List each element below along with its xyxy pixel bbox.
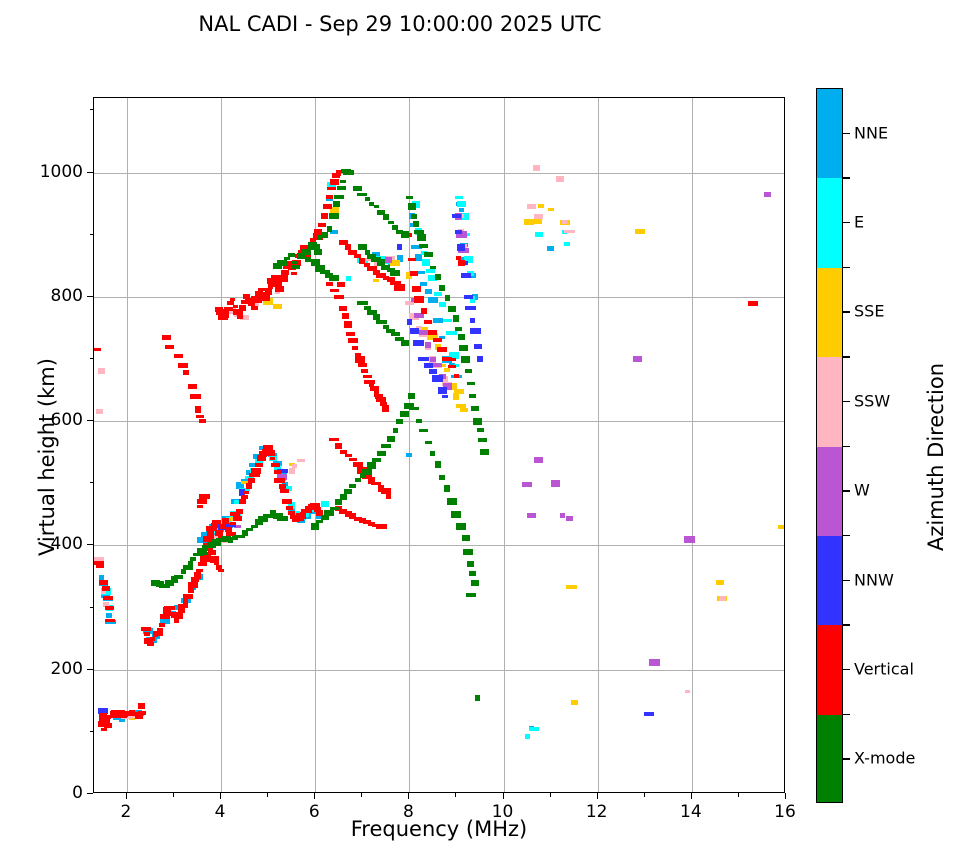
data-point bbox=[446, 331, 457, 335]
y-tick bbox=[87, 420, 93, 421]
data-point bbox=[562, 220, 567, 224]
data-point bbox=[451, 511, 461, 518]
data-point bbox=[458, 260, 465, 266]
data-point bbox=[435, 461, 441, 468]
data-point bbox=[455, 196, 463, 199]
data-point bbox=[385, 257, 392, 263]
data-point bbox=[183, 370, 189, 375]
data-point bbox=[410, 328, 419, 334]
data-point bbox=[344, 321, 352, 328]
data-point bbox=[327, 187, 336, 190]
x-tick bbox=[597, 793, 598, 799]
data-point bbox=[422, 259, 430, 266]
data-point bbox=[460, 408, 468, 412]
data-point bbox=[649, 659, 660, 666]
data-point bbox=[251, 306, 258, 310]
y-tick bbox=[87, 544, 93, 545]
data-point bbox=[321, 213, 328, 219]
data-point bbox=[716, 580, 724, 585]
data-point bbox=[199, 419, 206, 423]
data-point bbox=[633, 356, 642, 362]
data-point bbox=[196, 415, 204, 418]
data-point bbox=[438, 387, 447, 394]
data-point bbox=[157, 628, 163, 634]
data-point bbox=[466, 593, 476, 597]
data-point bbox=[340, 180, 346, 183]
colorbar-band-x-mode[interactable] bbox=[817, 715, 842, 803]
data-point bbox=[330, 179, 339, 185]
data-point bbox=[194, 572, 201, 579]
data-point bbox=[162, 335, 171, 340]
data-point bbox=[222, 518, 229, 524]
data-point bbox=[534, 457, 543, 463]
data-point bbox=[428, 297, 438, 303]
data-point bbox=[183, 599, 188, 604]
data-point bbox=[164, 606, 175, 610]
data-point bbox=[571, 700, 578, 705]
data-point bbox=[461, 273, 471, 278]
data-point bbox=[183, 594, 193, 599]
data-point bbox=[270, 457, 275, 460]
data-point bbox=[421, 308, 427, 314]
y-tick bbox=[90, 482, 94, 483]
data-point bbox=[461, 356, 470, 363]
y-tick-label: 800 bbox=[13, 286, 83, 306]
data-point bbox=[147, 642, 154, 646]
y-tick bbox=[90, 607, 94, 608]
data-point bbox=[391, 332, 400, 336]
data-point bbox=[326, 282, 333, 286]
data-point bbox=[413, 340, 424, 346]
data-point bbox=[159, 623, 165, 627]
data-point bbox=[416, 419, 422, 423]
data-point bbox=[445, 295, 450, 301]
data-point bbox=[433, 338, 442, 342]
data-point bbox=[236, 509, 243, 514]
data-point bbox=[239, 305, 246, 311]
colorbar-band-separator bbox=[843, 535, 850, 536]
data-point bbox=[439, 475, 445, 480]
data-point bbox=[104, 723, 112, 728]
data-point bbox=[454, 389, 464, 394]
data-point bbox=[564, 242, 570, 246]
x-tick bbox=[267, 793, 268, 797]
data-point bbox=[685, 690, 690, 693]
data-point bbox=[388, 221, 394, 224]
data-point bbox=[467, 561, 474, 567]
plot-area[interactable] bbox=[93, 97, 785, 793]
data-point bbox=[178, 608, 185, 613]
data-point bbox=[478, 438, 487, 442]
colorbar-band-ssw[interactable] bbox=[817, 357, 842, 446]
data-point bbox=[197, 548, 207, 555]
data-point bbox=[374, 205, 379, 208]
data-point bbox=[442, 395, 448, 398]
data-point bbox=[373, 279, 379, 282]
data-point bbox=[424, 320, 432, 324]
data-point bbox=[358, 363, 367, 367]
data-point bbox=[274, 478, 285, 483]
data-point bbox=[397, 244, 402, 250]
data-point bbox=[94, 348, 101, 351]
data-point bbox=[474, 344, 482, 349]
colorbar-tick bbox=[843, 401, 850, 402]
data-point bbox=[432, 375, 443, 382]
data-point bbox=[357, 193, 367, 196]
data-point bbox=[448, 306, 456, 312]
colorbar-band-nnw[interactable] bbox=[817, 536, 842, 625]
data-point bbox=[329, 438, 339, 441]
data-point bbox=[343, 170, 354, 175]
data-point bbox=[425, 342, 431, 348]
colorbar-label-vertical: Vertical bbox=[854, 659, 914, 678]
data-point bbox=[178, 363, 188, 368]
data-point bbox=[327, 226, 332, 232]
data-point bbox=[475, 695, 480, 701]
data-point bbox=[459, 345, 468, 351]
data-layer bbox=[94, 98, 784, 792]
data-point bbox=[465, 369, 472, 373]
data-point bbox=[102, 586, 110, 591]
data-point bbox=[316, 520, 323, 523]
colorbar-tick bbox=[843, 758, 850, 759]
x-tick bbox=[503, 793, 504, 799]
data-point bbox=[386, 493, 391, 499]
data-point bbox=[277, 516, 288, 521]
data-point bbox=[103, 596, 113, 600]
data-point bbox=[246, 528, 253, 531]
ionogram-figure: NAL CADI - Sep 29 10:00:00 2025 UTC 2468… bbox=[0, 0, 958, 857]
data-point bbox=[529, 727, 539, 731]
data-point bbox=[98, 368, 105, 374]
data-point bbox=[401, 231, 409, 238]
data-point bbox=[424, 252, 433, 257]
data-point bbox=[330, 507, 339, 510]
data-point bbox=[288, 253, 295, 257]
data-point bbox=[429, 369, 437, 374]
colorbar-tick bbox=[843, 311, 850, 312]
x-tick bbox=[220, 793, 221, 799]
data-point bbox=[414, 296, 424, 303]
data-point bbox=[342, 313, 349, 319]
data-point bbox=[719, 596, 726, 601]
data-point bbox=[286, 506, 293, 510]
y-tick-label: 200 bbox=[13, 659, 83, 679]
y-tick bbox=[87, 296, 93, 297]
colorbar-label-ssw: SSW bbox=[854, 391, 890, 410]
data-point bbox=[321, 501, 329, 507]
data-point bbox=[251, 525, 258, 528]
data-point bbox=[311, 523, 319, 530]
data-point bbox=[246, 483, 252, 489]
colorbar-band-separator bbox=[843, 177, 850, 178]
data-point bbox=[362, 469, 372, 475]
colorbar[interactable] bbox=[816, 88, 843, 803]
data-point bbox=[337, 282, 345, 287]
colorbar-band-nne[interactable] bbox=[817, 89, 842, 178]
x-tick bbox=[644, 793, 645, 797]
data-point bbox=[430, 451, 435, 456]
data-point bbox=[419, 429, 428, 432]
data-point bbox=[424, 363, 433, 368]
data-point bbox=[535, 232, 543, 237]
data-point bbox=[414, 313, 424, 318]
data-point bbox=[267, 450, 275, 456]
x-tick bbox=[455, 793, 456, 797]
data-point bbox=[635, 229, 645, 234]
data-point bbox=[224, 307, 233, 311]
data-point bbox=[197, 499, 207, 504]
colorbar-label-nnw: NNW bbox=[854, 570, 894, 589]
data-point bbox=[480, 449, 489, 455]
data-point bbox=[314, 229, 322, 235]
data-point bbox=[413, 221, 419, 227]
data-point bbox=[548, 208, 554, 211]
data-point bbox=[199, 494, 210, 499]
y-tick-label: 1000 bbox=[13, 162, 83, 182]
y-tick-label: 0 bbox=[13, 783, 83, 803]
data-point bbox=[244, 491, 249, 494]
data-point bbox=[527, 513, 536, 518]
x-tick bbox=[691, 793, 692, 799]
data-point bbox=[464, 295, 473, 299]
data-point bbox=[764, 192, 771, 197]
data-point bbox=[367, 462, 376, 469]
x-tick bbox=[314, 793, 315, 799]
data-point bbox=[188, 384, 197, 389]
data-point bbox=[223, 311, 229, 318]
data-point bbox=[337, 186, 346, 190]
data-point bbox=[381, 444, 391, 448]
data-point bbox=[411, 214, 417, 219]
data-point bbox=[473, 418, 482, 425]
data-point bbox=[433, 318, 443, 323]
data-point bbox=[387, 436, 395, 442]
data-point bbox=[178, 604, 188, 608]
data-point bbox=[174, 612, 183, 619]
data-point bbox=[230, 522, 236, 525]
y-axis-title: Virtual height (km) bbox=[35, 307, 59, 607]
data-point bbox=[138, 703, 145, 709]
x-tick bbox=[550, 793, 551, 797]
data-point bbox=[564, 230, 575, 233]
data-point bbox=[377, 451, 386, 456]
colorbar-tick bbox=[843, 222, 850, 223]
data-point bbox=[233, 305, 238, 308]
colorbar-tick bbox=[843, 580, 850, 581]
data-point bbox=[96, 409, 103, 414]
data-point bbox=[277, 260, 287, 266]
data-point bbox=[419, 244, 428, 248]
data-point bbox=[323, 204, 332, 209]
colorbar-band-sse[interactable] bbox=[817, 268, 842, 357]
data-point bbox=[409, 407, 419, 410]
x-tick bbox=[126, 793, 127, 799]
data-point bbox=[456, 523, 466, 530]
data-point bbox=[280, 489, 289, 493]
data-point bbox=[425, 289, 432, 294]
colorbar-band-separator bbox=[843, 356, 850, 357]
data-point bbox=[376, 524, 387, 529]
colorbar-label-nne: NNE bbox=[854, 123, 888, 142]
y-tick bbox=[87, 172, 93, 173]
data-point bbox=[261, 295, 270, 301]
data-point bbox=[277, 275, 288, 282]
data-point bbox=[417, 234, 426, 241]
data-point bbox=[255, 463, 263, 467]
data-point bbox=[275, 286, 284, 292]
data-point bbox=[534, 214, 543, 219]
data-point bbox=[455, 327, 462, 331]
data-point bbox=[444, 485, 450, 492]
data-point bbox=[453, 393, 459, 400]
data-point bbox=[433, 363, 442, 367]
data-point bbox=[188, 561, 193, 565]
data-point bbox=[345, 454, 352, 457]
data-point bbox=[297, 459, 305, 462]
data-point bbox=[346, 332, 355, 336]
data-point bbox=[361, 369, 368, 373]
data-point bbox=[105, 606, 114, 610]
data-point bbox=[471, 580, 479, 586]
x-tick bbox=[785, 793, 786, 799]
data-point bbox=[390, 270, 400, 276]
data-point bbox=[426, 269, 435, 273]
data-point bbox=[183, 565, 193, 570]
data-point bbox=[174, 354, 183, 358]
colorbar-label-sse: SSE bbox=[854, 302, 884, 321]
y-tick bbox=[90, 109, 94, 110]
data-point bbox=[355, 356, 365, 363]
data-point bbox=[477, 356, 483, 362]
data-point bbox=[408, 258, 416, 261]
data-point bbox=[684, 536, 695, 543]
data-point bbox=[452, 214, 461, 218]
data-point bbox=[428, 330, 437, 335]
data-point bbox=[292, 261, 297, 264]
data-point bbox=[437, 347, 447, 352]
data-point bbox=[465, 306, 476, 310]
data-point bbox=[248, 478, 255, 483]
data-point bbox=[274, 470, 281, 474]
data-point bbox=[532, 219, 542, 224]
data-point bbox=[348, 338, 358, 343]
colorbar-band-vertical[interactable] bbox=[817, 625, 842, 714]
data-point bbox=[188, 582, 198, 588]
data-point bbox=[644, 712, 654, 716]
colorbar-tick bbox=[843, 669, 850, 670]
data-point bbox=[150, 637, 155, 641]
data-point bbox=[105, 619, 115, 622]
data-point bbox=[282, 499, 292, 504]
data-point bbox=[439, 302, 446, 307]
data-point bbox=[318, 223, 326, 227]
data-point bbox=[418, 271, 425, 274]
data-point bbox=[279, 484, 286, 489]
x-axis-title: Frequency (MHz) bbox=[93, 817, 785, 841]
data-point bbox=[326, 195, 333, 199]
data-point bbox=[365, 197, 370, 201]
data-point bbox=[406, 196, 413, 199]
data-point bbox=[463, 549, 473, 555]
data-point bbox=[340, 494, 347, 500]
data-point bbox=[330, 289, 339, 292]
data-point bbox=[393, 428, 398, 433]
data-point bbox=[525, 734, 530, 739]
data-point bbox=[382, 405, 389, 412]
data-point bbox=[420, 282, 427, 286]
data-point bbox=[198, 562, 207, 566]
data-point bbox=[457, 201, 466, 207]
data-point bbox=[203, 536, 210, 542]
data-point bbox=[329, 213, 339, 219]
data-point bbox=[352, 346, 358, 350]
colorbar-band-w[interactable] bbox=[817, 447, 842, 536]
colorbar-label-e: E bbox=[854, 213, 864, 232]
data-point bbox=[467, 382, 475, 385]
data-point bbox=[190, 394, 201, 399]
data-point bbox=[174, 575, 183, 579]
data-point bbox=[477, 428, 484, 432]
colorbar-band-separator bbox=[843, 624, 850, 625]
data-point bbox=[470, 328, 481, 334]
x-tick bbox=[173, 793, 174, 797]
data-point bbox=[314, 249, 322, 255]
data-point bbox=[353, 186, 362, 191]
data-point bbox=[412, 286, 421, 292]
data-point bbox=[547, 246, 554, 251]
data-point bbox=[329, 275, 339, 281]
data-point bbox=[748, 301, 758, 306]
data-point bbox=[551, 480, 560, 487]
data-point bbox=[566, 585, 577, 589]
data-point bbox=[349, 458, 357, 461]
data-point bbox=[335, 443, 342, 449]
data-point bbox=[355, 478, 361, 482]
data-point bbox=[271, 463, 280, 467]
data-point bbox=[401, 340, 409, 346]
data-point bbox=[239, 499, 246, 504]
data-point bbox=[414, 230, 424, 234]
data-point bbox=[470, 318, 475, 323]
data-point bbox=[435, 274, 441, 280]
data-point bbox=[458, 334, 465, 340]
data-point bbox=[106, 613, 112, 618]
data-point bbox=[195, 406, 201, 413]
data-point bbox=[233, 516, 242, 521]
data-point bbox=[197, 505, 203, 508]
data-point bbox=[292, 265, 300, 269]
data-point bbox=[527, 204, 536, 209]
data-point bbox=[196, 569, 203, 572]
colorbar-label-w: W bbox=[854, 481, 870, 500]
data-point bbox=[448, 358, 456, 361]
data-point bbox=[372, 458, 381, 462]
data-point bbox=[99, 580, 108, 585]
colorbar-label-x-mode: X-mode bbox=[854, 749, 915, 768]
x-tick bbox=[738, 793, 739, 797]
colorbar-title: Azimuth Direction bbox=[924, 307, 948, 607]
data-point bbox=[376, 320, 387, 324]
data-point bbox=[443, 319, 452, 322]
data-point bbox=[419, 330, 429, 335]
data-point bbox=[448, 365, 456, 368]
data-point bbox=[237, 312, 243, 319]
data-point bbox=[333, 201, 340, 207]
data-point bbox=[453, 315, 459, 322]
colorbar-band-e[interactable] bbox=[817, 178, 842, 267]
data-point bbox=[390, 260, 400, 266]
